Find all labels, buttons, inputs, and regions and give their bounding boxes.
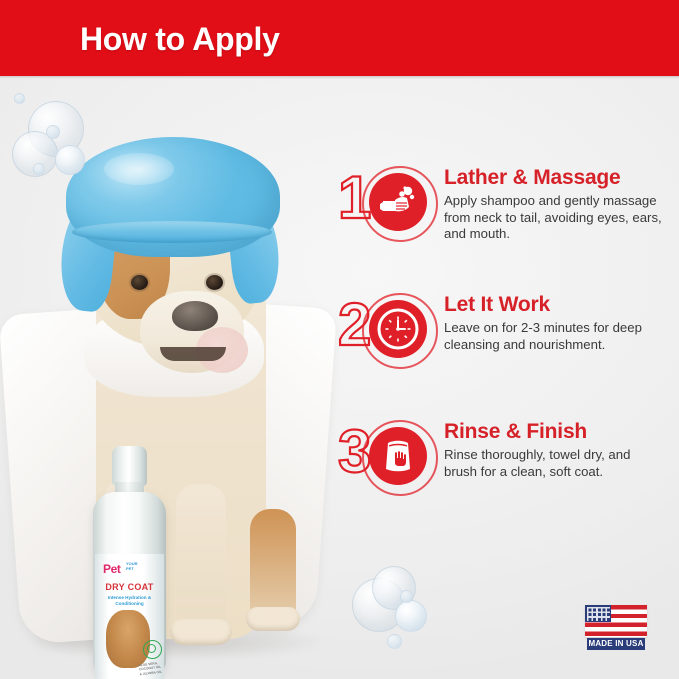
page-title: How to Apply: [80, 21, 280, 58]
soap-bubble: [400, 590, 413, 603]
step-title: Rinse & Finish: [444, 420, 662, 444]
step-icon-2: 2: [336, 287, 434, 371]
flag-canton: [585, 605, 611, 622]
step-text: Rinse & Finish Rinse thoroughly, towel d…: [434, 414, 662, 480]
shampoo-bottle: Pet YOUR PET DRY COAT Intense Hydration …: [93, 446, 166, 672]
step-text: Let It Work Leave on for 2-3 minutes for…: [434, 287, 662, 353]
dog-paw-front-right: [170, 619, 232, 645]
infographic-page: How to Apply: [0, 0, 679, 679]
step-item: 1 Lather & Massage Apply: [336, 160, 666, 244]
soap-bubble: [55, 145, 85, 175]
towel-hand-icon: [369, 427, 427, 485]
soap-bubble: [395, 600, 427, 632]
clock-icon: [369, 300, 427, 358]
dog-nose: [172, 301, 218, 331]
soap-bubble: [14, 93, 25, 104]
brand-sub-line-2: PET: [126, 567, 138, 572]
step-title: Lather & Massage: [444, 166, 662, 190]
step-text: Lather & Massage Apply shampoo and gentl…: [434, 160, 662, 243]
bottle-label: Pet YOUR PET DRY COAT Intense Hydration …: [95, 554, 164, 679]
made-in-usa-badge: MADE IN USA: [585, 605, 647, 651]
label-dog-photo: [106, 610, 150, 668]
dog-leg-front-right: [176, 484, 226, 632]
hand-lather-icon: [369, 173, 427, 231]
made-in-usa-label: MADE IN USA: [587, 638, 645, 650]
bottle-cap: [112, 446, 147, 486]
soap-bubble: [387, 634, 402, 649]
brand-name: Pet: [103, 562, 120, 576]
steps-list: 1 Lather & Massage Apply: [336, 160, 666, 541]
label-ingredients: ALOE VERA, COCONUT OIL & JOJOBA OIL: [138, 661, 163, 677]
brand-tagline: YOUR PET: [126, 562, 138, 571]
usa-flag-icon: [585, 605, 647, 637]
label-dog-face: [114, 626, 142, 656]
dog-mouth: [160, 347, 226, 361]
natural-seal-icon: [143, 640, 162, 659]
step-icon-3: 3: [336, 414, 434, 498]
dog-paw-back-right: [246, 607, 300, 631]
bottle-body: Pet YOUR PET DRY COAT Intense Hydration …: [93, 492, 166, 672]
dog-eye-left: [131, 275, 148, 290]
step-description: Rinse thoroughly, towel dry, and brush f…: [444, 447, 662, 480]
soap-bubble: [33, 163, 45, 175]
step-item: 3 Rinse & Finish Rinse thoroughly, towel…: [336, 414, 666, 498]
product-photo: Pet YOUR PET DRY COAT Intense Hydration …: [0, 79, 340, 679]
step-description: Leave on for 2-3 minutes for deep cleans…: [444, 320, 662, 353]
shower-cap-highlight: [104, 153, 174, 185]
step-description: Apply shampoo and gently massage from ne…: [444, 193, 662, 243]
step-title: Let It Work: [444, 293, 662, 317]
flag-stars: [587, 607, 610, 621]
product-name: DRY COAT: [95, 582, 164, 592]
shower-cap-band: [72, 221, 272, 243]
soap-bubble: [46, 125, 60, 139]
step-icon-1: 1: [336, 160, 434, 244]
dog-eye-right: [206, 275, 223, 290]
product-tagline: Intense Hydration & Conditioning: [95, 595, 164, 607]
step-item: 2: [336, 287, 666, 371]
